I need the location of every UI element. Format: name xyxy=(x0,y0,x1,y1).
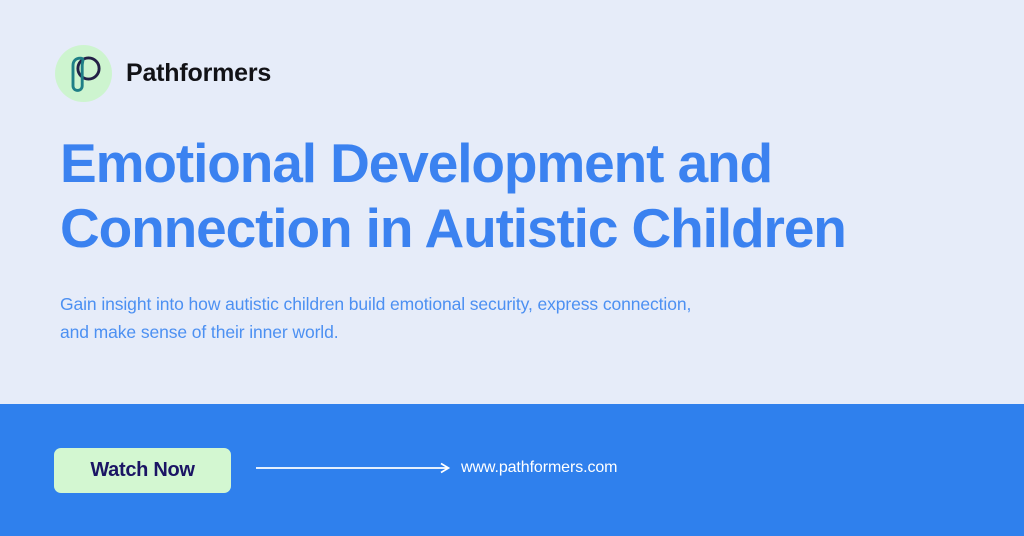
watch-now-button[interactable]: Watch Now xyxy=(54,448,231,493)
subtitle-line-1: Gain insight into how autistic children … xyxy=(60,290,880,318)
brand-name: Pathformers xyxy=(126,59,271,88)
subtitle-line-2: and make sense of their inner world. xyxy=(60,318,880,346)
headline-line-1: Emotional Development and xyxy=(60,131,960,196)
footer-bar: Watch Now www.pathformers.com × × × × × … xyxy=(0,404,1024,536)
promo-banner: Pathformers Emotional Development and Co… xyxy=(0,0,1024,536)
brand-lockup: Pathformers xyxy=(55,45,271,102)
subtitle: Gain insight into how autistic children … xyxy=(60,290,880,347)
website-url[interactable]: www.pathformers.com xyxy=(461,459,617,477)
pathformers-monogram-icon xyxy=(55,45,112,102)
headline: Emotional Development and Connection in … xyxy=(60,131,960,261)
arrow-right-icon xyxy=(256,461,454,473)
headline-line-2: Connection in Autistic Children xyxy=(60,196,960,261)
